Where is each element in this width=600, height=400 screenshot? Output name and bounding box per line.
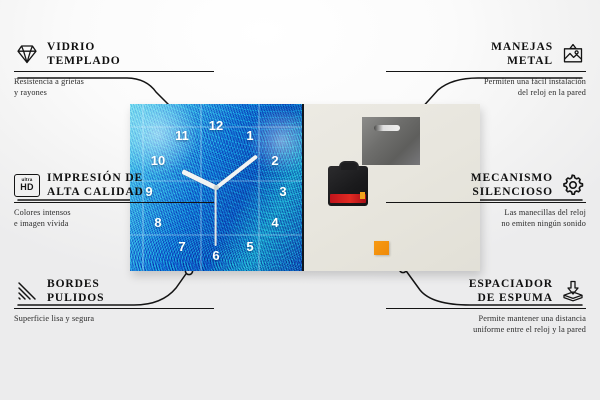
callout-rule bbox=[14, 71, 214, 72]
clock-number-3: 3 bbox=[274, 185, 292, 198]
wall-hanger-frame-icon bbox=[560, 41, 586, 67]
metal-hanger-plate bbox=[362, 117, 420, 165]
callout-desc-line2: e imagen vívida bbox=[14, 219, 69, 228]
callout-espaciador-de-espuma: ESPACIADOR DE ESPUMA Permite mantener un… bbox=[386, 277, 586, 336]
callout-header: MECANISMO SILENCIOSO bbox=[386, 171, 586, 199]
callout-rule bbox=[386, 308, 586, 309]
callout-title: MANEJAS METAL bbox=[491, 40, 553, 68]
callout-desc-line1: Superficie lisa y segura bbox=[14, 314, 94, 323]
battery bbox=[330, 194, 366, 203]
clock-number-1: 1 bbox=[241, 129, 259, 142]
ultra-hd-badge-icon: ultra HD bbox=[14, 172, 40, 198]
callout-mecanismo-silencioso: MECANISMO SILENCIOSO Las manecillas del … bbox=[386, 171, 586, 230]
callout-desc-line2: no emiten ningún sonido bbox=[501, 219, 586, 228]
clock-number-4: 4 bbox=[266, 216, 284, 229]
callout-header: BORDES PULIDOS bbox=[14, 277, 214, 305]
hanger-slot bbox=[374, 125, 400, 131]
callout-desc-line2: del reloj en la pared bbox=[518, 88, 586, 97]
diamond-icon bbox=[14, 41, 40, 67]
mechanism-knob bbox=[339, 161, 359, 170]
callout-title-line2: TEMPLADO bbox=[47, 55, 121, 67]
clock-mechanism-box bbox=[328, 166, 368, 206]
clock-number-2: 2 bbox=[266, 154, 284, 167]
callout-title-line1: IMPRESIÓN DE bbox=[47, 172, 143, 184]
callout-title-line2: SILENCIOSO bbox=[472, 186, 553, 198]
callout-rule bbox=[386, 202, 586, 203]
callout-title-line1: VIDRIO bbox=[47, 41, 95, 53]
callout-description: Permite mantener una distancia uniforme … bbox=[386, 313, 586, 335]
callout-bordes-pulidos: BORDES PULIDOS Superficie lisa y segura bbox=[14, 277, 214, 324]
callout-header: ultra HD IMPRESIÓN DE ALTA CALIDAD bbox=[14, 171, 214, 199]
callout-desc-line2: uniforme entre el reloj y la pared bbox=[473, 325, 586, 334]
clock-number-10: 10 bbox=[149, 154, 167, 167]
polished-edges-icon bbox=[14, 278, 40, 304]
callout-title-line2: DE ESPUMA bbox=[477, 292, 553, 304]
foam-spacer-square bbox=[374, 241, 389, 255]
clock-number-11: 11 bbox=[173, 129, 191, 142]
clock-number-5: 5 bbox=[241, 240, 259, 253]
clock-second-hand bbox=[215, 188, 217, 246]
callout-header: VIDRIO TEMPLADO bbox=[14, 40, 214, 68]
callout-description: Las manecillas del reloj no emiten ningú… bbox=[386, 207, 586, 229]
callout-desc-line1: Permiten una fácil instalación bbox=[484, 77, 586, 86]
callout-rule bbox=[14, 202, 214, 203]
callout-description: Colores intensos e imagen vívida bbox=[14, 207, 214, 229]
clock-center-cap bbox=[214, 185, 219, 190]
foam-spacer-arrow-icon bbox=[560, 278, 586, 304]
callout-desc-line1: Resistencia a grietas bbox=[14, 77, 84, 86]
callout-title-line2: METAL bbox=[507, 55, 553, 67]
callout-title: VIDRIO TEMPLADO bbox=[47, 40, 121, 68]
callout-title: IMPRESIÓN DE ALTA CALIDAD bbox=[47, 171, 144, 199]
callout-manejas-metal: MANEJAS METAL Permiten una fácil instala… bbox=[386, 40, 586, 99]
callout-title: BORDES PULIDOS bbox=[47, 277, 104, 305]
callout-title-line2: PULIDOS bbox=[47, 292, 104, 304]
callout-title-line1: MANEJAS bbox=[491, 41, 553, 53]
callout-header: MANEJAS METAL bbox=[386, 40, 586, 68]
clock-number-6: 6 bbox=[207, 249, 225, 262]
hd-badge-box: ultra HD bbox=[14, 174, 40, 197]
callout-description: Superficie lisa y segura bbox=[14, 313, 214, 324]
callout-header: ESPACIADOR DE ESPUMA bbox=[386, 277, 586, 305]
callout-rule bbox=[14, 308, 214, 309]
callout-desc-line1: Colores intensos bbox=[14, 208, 71, 217]
callout-title: MECANISMO SILENCIOSO bbox=[471, 171, 553, 199]
callout-rule bbox=[386, 71, 586, 72]
callout-desc-line1: Las manecillas del reloj bbox=[504, 208, 586, 217]
callout-title-line1: MECANISMO bbox=[471, 172, 553, 184]
hd-badge-hd-text: HD bbox=[20, 183, 34, 192]
callout-title-line1: BORDES bbox=[47, 278, 100, 290]
callout-impresion-alta-calidad: ultra HD IMPRESIÓN DE ALTA CALIDAD Color… bbox=[14, 171, 214, 230]
infographic-canvas: 12 1 2 3 4 5 6 7 8 9 10 11 bbox=[0, 0, 600, 400]
gear-icon bbox=[560, 172, 586, 198]
callout-title-line2: ALTA CALIDAD bbox=[47, 186, 144, 198]
callout-desc-line2: y rayones bbox=[14, 88, 47, 97]
clock-number-7: 7 bbox=[173, 240, 191, 253]
callout-vidrio-templado: VIDRIO TEMPLADO Resistencia a grietas y … bbox=[14, 40, 214, 99]
callout-desc-line1: Permite mantener una distancia bbox=[479, 314, 587, 323]
callout-title-line1: ESPACIADOR bbox=[469, 278, 553, 290]
battery-tip bbox=[360, 192, 365, 199]
callout-description: Permiten una fácil instalación del reloj… bbox=[386, 76, 586, 98]
callout-title: ESPACIADOR DE ESPUMA bbox=[469, 277, 553, 305]
callout-description: Resistencia a grietas y rayones bbox=[14, 76, 214, 98]
clock-number-12: 12 bbox=[207, 119, 225, 132]
